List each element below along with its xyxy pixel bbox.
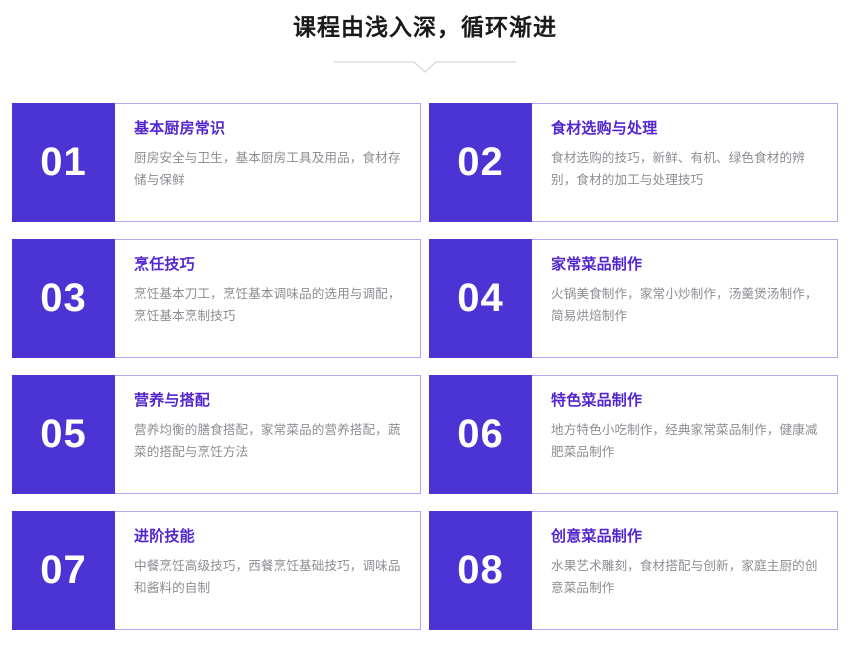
module-title: 营养与搭配 [134, 390, 404, 412]
module-title: 食材选购与处理 [551, 118, 821, 140]
module-title: 创意菜品制作 [551, 526, 821, 548]
chevron-down-divider-icon [334, 58, 516, 76]
module-content: 进阶技能 中餐烹饪高级技巧，西餐烹饪基础技巧，调味品和酱料的自制 [115, 511, 421, 630]
module-number-badge: 01 [12, 103, 115, 222]
module-title: 进阶技能 [134, 526, 404, 548]
course-outline-page: 课程由浅入深，循环渐进 01 基本厨房常识 厨房安全与卫生，基本厨房工具及用品，… [0, 0, 850, 648]
module-description: 食材选购的技巧，新鲜、有机、绿色食材的辨别，食材的加工与处理技巧 [551, 147, 821, 191]
module-number-badge: 03 [12, 239, 115, 358]
module-description: 火锅美食制作，家常小炒制作，汤羹煲汤制作，简易烘焙制作 [551, 283, 821, 327]
course-module-card[interactable]: 03 烹任技巧 烹饪基本刀工，烹饪基本调味品的选用与调配，烹饪基本烹制技巧 [12, 239, 421, 358]
module-title: 烹任技巧 [134, 254, 404, 276]
module-description: 地方特色小吃制作，经典家常菜品制作，健康减肥菜品制作 [551, 419, 821, 463]
page-title: 课程由浅入深，循环渐进 [0, 10, 850, 44]
course-module-card[interactable]: 06 特色菜品制作 地方特色小吃制作，经典家常菜品制作，健康减肥菜品制作 [429, 375, 838, 494]
course-module-grid: 01 基本厨房常识 厨房安全与卫生，基本厨房工具及用品，食材存储与保鲜 02 食… [12, 103, 838, 630]
module-content: 家常菜品制作 火锅美食制作，家常小炒制作，汤羹煲汤制作，简易烘焙制作 [532, 239, 838, 358]
module-description: 烹饪基本刀工，烹饪基本调味品的选用与调配，烹饪基本烹制技巧 [134, 283, 404, 327]
course-module-card[interactable]: 05 营养与搭配 营养均衡的膳食搭配，家常菜品的营养搭配，蔬菜的搭配与烹饪方法 [12, 375, 421, 494]
module-title: 家常菜品制作 [551, 254, 821, 276]
module-description: 中餐烹饪高级技巧，西餐烹饪基础技巧，调味品和酱料的自制 [134, 555, 404, 599]
module-description: 营养均衡的膳食搭配，家常菜品的营养搭配，蔬菜的搭配与烹饪方法 [134, 419, 404, 463]
course-module-card[interactable]: 07 进阶技能 中餐烹饪高级技巧，西餐烹饪基础技巧，调味品和酱料的自制 [12, 511, 421, 630]
module-number-badge: 04 [429, 239, 532, 358]
module-number-badge: 06 [429, 375, 532, 494]
module-content: 创意菜品制作 水果艺术雕刻，食材搭配与创新，家庭主厨的创意菜品制作 [532, 511, 838, 630]
module-content: 烹任技巧 烹饪基本刀工，烹饪基本调味品的选用与调配，烹饪基本烹制技巧 [115, 239, 421, 358]
section-header: 课程由浅入深，循环渐进 [0, 0, 850, 76]
module-content: 营养与搭配 营养均衡的膳食搭配，家常菜品的营养搭配，蔬菜的搭配与烹饪方法 [115, 375, 421, 494]
module-content: 基本厨房常识 厨房安全与卫生，基本厨房工具及用品，食材存储与保鲜 [115, 103, 421, 222]
course-module-card[interactable]: 02 食材选购与处理 食材选购的技巧，新鲜、有机、绿色食材的辨别，食材的加工与处… [429, 103, 838, 222]
module-content: 特色菜品制作 地方特色小吃制作，经典家常菜品制作，健康减肥菜品制作 [532, 375, 838, 494]
module-description: 厨房安全与卫生，基本厨房工具及用品，食材存储与保鲜 [134, 147, 404, 191]
module-title: 特色菜品制作 [551, 390, 821, 412]
module-number-badge: 07 [12, 511, 115, 630]
course-module-card[interactable]: 04 家常菜品制作 火锅美食制作，家常小炒制作，汤羹煲汤制作，简易烘焙制作 [429, 239, 838, 358]
module-number-badge: 02 [429, 103, 532, 222]
module-content: 食材选购与处理 食材选购的技巧，新鲜、有机、绿色食材的辨别，食材的加工与处理技巧 [532, 103, 838, 222]
module-number-badge: 05 [12, 375, 115, 494]
course-module-card[interactable]: 01 基本厨房常识 厨房安全与卫生，基本厨房工具及用品，食材存储与保鲜 [12, 103, 421, 222]
course-module-card[interactable]: 08 创意菜品制作 水果艺术雕刻，食材搭配与创新，家庭主厨的创意菜品制作 [429, 511, 838, 630]
module-description: 水果艺术雕刻，食材搭配与创新，家庭主厨的创意菜品制作 [551, 555, 821, 599]
module-title: 基本厨房常识 [134, 118, 404, 140]
module-number-badge: 08 [429, 511, 532, 630]
